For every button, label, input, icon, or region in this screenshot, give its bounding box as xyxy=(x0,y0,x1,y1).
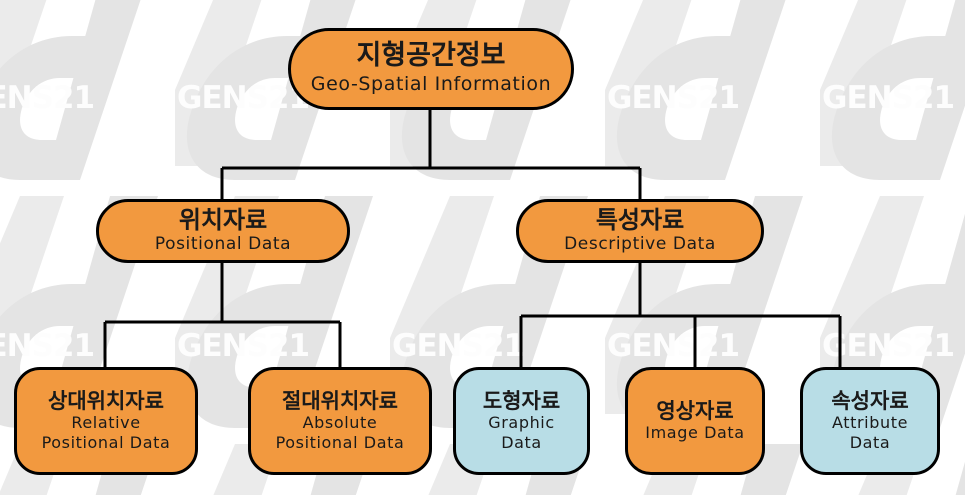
node-label-en: Image Data xyxy=(645,424,744,442)
node-label-ko: 특성자료 xyxy=(596,208,684,233)
node-label-en-line2: Positional Data xyxy=(276,434,405,452)
node-label-en-line1: Attribute xyxy=(832,414,908,432)
node-label-en-line2: Data xyxy=(850,434,891,452)
node-label-ko: 상대위치자료 xyxy=(48,390,164,412)
node-layer: 지형공간정보 Geo-Spatial Information 위치자료 Posi… xyxy=(0,0,965,495)
diagram-canvas: GENS21GENS21GENS21GENS21GENS21GENS21GENS… xyxy=(0,0,965,495)
node-label-en: Geo-Spatial Information xyxy=(311,74,551,96)
node-image-data[interactable]: 영상자료 Image Data xyxy=(625,367,765,475)
node-label-ko: 속성자료 xyxy=(831,390,908,412)
node-label-ko: 절대위치자료 xyxy=(282,390,398,412)
node-label-en: Positional Data xyxy=(155,235,291,254)
node-label-en: Descriptive Data xyxy=(564,235,716,254)
node-label-en-line2: Data xyxy=(501,434,542,452)
node-label-ko: 위치자료 xyxy=(179,208,267,233)
node-label-ko: 지형공간정보 xyxy=(356,42,505,71)
node-label-ko: 영상자료 xyxy=(656,400,733,422)
node-label-en-line1: Relative xyxy=(71,414,140,432)
node-label-en-line1: Graphic xyxy=(488,414,555,432)
node-label-en-line2: Positional Data xyxy=(42,434,171,452)
node-label-ko: 도형자료 xyxy=(483,390,560,412)
node-relative-positional-data[interactable]: 상대위치자료 Relative Positional Data xyxy=(14,367,198,475)
node-attribute-data[interactable]: 속성자료 Attribute Data xyxy=(800,367,940,475)
node-absolute-positional-data[interactable]: 절대위치자료 Absolute Positional Data xyxy=(248,367,432,475)
node-label-en-line1: Absolute xyxy=(303,414,378,432)
node-geo-spatial-information[interactable]: 지형공간정보 Geo-Spatial Information xyxy=(288,28,574,110)
node-graphic-data[interactable]: 도형자료 Graphic Data xyxy=(453,367,590,475)
node-positional-data[interactable]: 위치자료 Positional Data xyxy=(96,199,350,263)
node-descriptive-data[interactable]: 특성자료 Descriptive Data xyxy=(516,199,764,263)
